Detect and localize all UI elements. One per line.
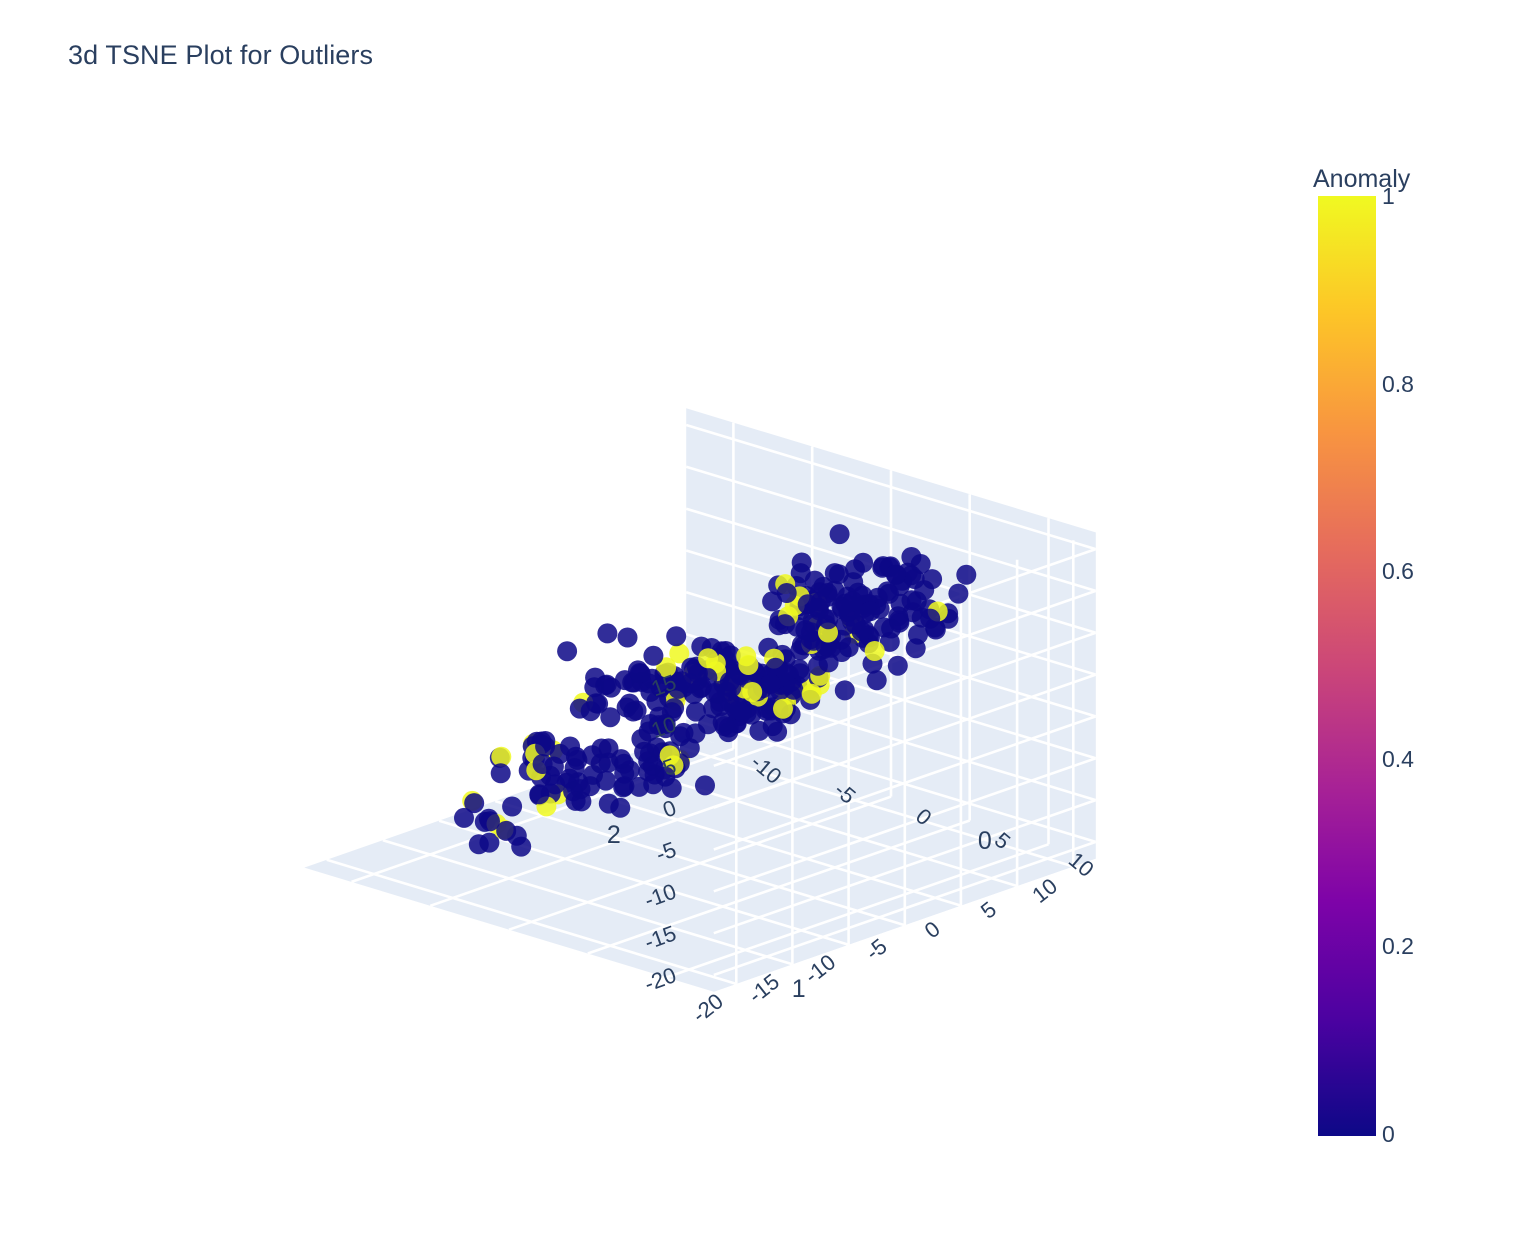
scatter-point-inlier (832, 642, 852, 662)
scatter-point-inlier (610, 798, 630, 818)
scatter-point-inlier (861, 601, 881, 621)
scatter-point-outlier (742, 682, 762, 702)
scatter-point-inlier (886, 565, 906, 585)
xaxis-tick-label: 0 (920, 916, 945, 943)
colorbar-tick: 0.8 (1382, 371, 1414, 398)
scatter-point-inlier (695, 775, 715, 795)
scatter-point-outlier (698, 648, 718, 668)
scatter-point-inlier (903, 602, 923, 622)
scatter-point-outlier (738, 655, 758, 675)
colorbar-title: Anomaly (1313, 165, 1410, 194)
scatter-point-inlier (867, 670, 887, 690)
scatter-point-inlier (620, 694, 640, 714)
scatter-point-inlier (922, 569, 942, 589)
scatter-point-inlier (818, 609, 838, 629)
scatter-point-inlier (845, 559, 865, 579)
scatter-point-inlier (566, 791, 586, 811)
scatter-point-inlier (533, 754, 553, 774)
scatter-point-inlier (808, 656, 828, 676)
plot-root: 3d TSNE Plot for Outliers 151050-5-10-15… (0, 0, 1536, 1233)
scatter-point-inlier (491, 763, 511, 783)
scatter-point-inlier (905, 569, 925, 589)
scatter-point-inlier (511, 837, 531, 857)
scatter-point-inlier (792, 553, 812, 573)
scatter-point-inlier (666, 626, 686, 646)
xaxis-tick-label: -20 (687, 988, 727, 1027)
scatter-point-outlier (865, 641, 885, 661)
scatter-point-inlier (557, 641, 577, 661)
scatter-point-inlier (686, 702, 706, 722)
colorbar-gradient (1318, 196, 1376, 1136)
xaxis-tick-label: 5 (976, 896, 1001, 923)
scatter-point-inlier (640, 743, 660, 763)
scatter-point-inlier (761, 674, 781, 694)
scatter-point-inlier (920, 609, 940, 629)
scatter-point-inlier (680, 738, 700, 758)
xaxis-title: 1 (792, 975, 806, 1003)
scatter-point-inlier (529, 784, 549, 804)
yaxis-title: 0 (978, 827, 992, 855)
scatter-point-inlier (817, 583, 837, 603)
scatter-point-inlier (618, 628, 638, 648)
scatter-point-inlier (767, 722, 787, 742)
scatter-point-inlier (777, 583, 797, 603)
colorbar-tick: 0.4 (1382, 746, 1414, 773)
zaxis-title: 2 (607, 821, 621, 849)
scatter-point-inlier (581, 701, 601, 721)
colorbar-tick: 0 (1382, 1121, 1395, 1148)
scatter-point-inlier (643, 646, 663, 666)
scatter-point-inlier (496, 821, 516, 841)
scatter-point-inlier (948, 584, 968, 604)
scatter-point-inlier (908, 625, 928, 645)
colorbar-tick: 1 (1382, 183, 1395, 210)
scatter-point-inlier (713, 712, 733, 732)
scatter-point-outlier (773, 699, 793, 719)
scatter-point-inlier (956, 565, 976, 585)
scatter-point-inlier (825, 563, 845, 583)
scatter-point-inlier (775, 614, 795, 634)
scatter-point-inlier (582, 745, 602, 765)
colorbar-tick: 0.6 (1382, 558, 1414, 585)
scatter-point-inlier (680, 673, 700, 693)
scatter-point-inlier (502, 797, 522, 817)
scatter-point-inlier (830, 524, 850, 544)
scatter-point-inlier (835, 680, 855, 700)
scatter-point-inlier (469, 834, 489, 854)
scatter-point-inlier (888, 656, 908, 676)
scene-3d[interactable]: 151050-5-10-15-202-20-15-10-505101-10-50… (0, 0, 1536, 1233)
scatter-point-inlier (597, 623, 617, 643)
scatter-point-inlier (597, 675, 617, 695)
scatter-point-inlier (580, 776, 600, 796)
colorbar[interactable] (1318, 196, 1438, 1176)
page-title: 3d TSNE Plot for Outliers (68, 40, 373, 71)
scatter-point-inlier (741, 705, 761, 725)
scatter-point-inlier (783, 680, 803, 700)
scatter-point-inlier (629, 777, 649, 797)
colorbar-tick: 0.2 (1382, 933, 1414, 960)
scatter-point-inlier (464, 793, 484, 813)
scatter-point-inlier (792, 635, 812, 655)
scatter-point-inlier (901, 547, 921, 567)
scatter-point-inlier (550, 744, 570, 764)
scatter-point-outlier (802, 684, 822, 704)
